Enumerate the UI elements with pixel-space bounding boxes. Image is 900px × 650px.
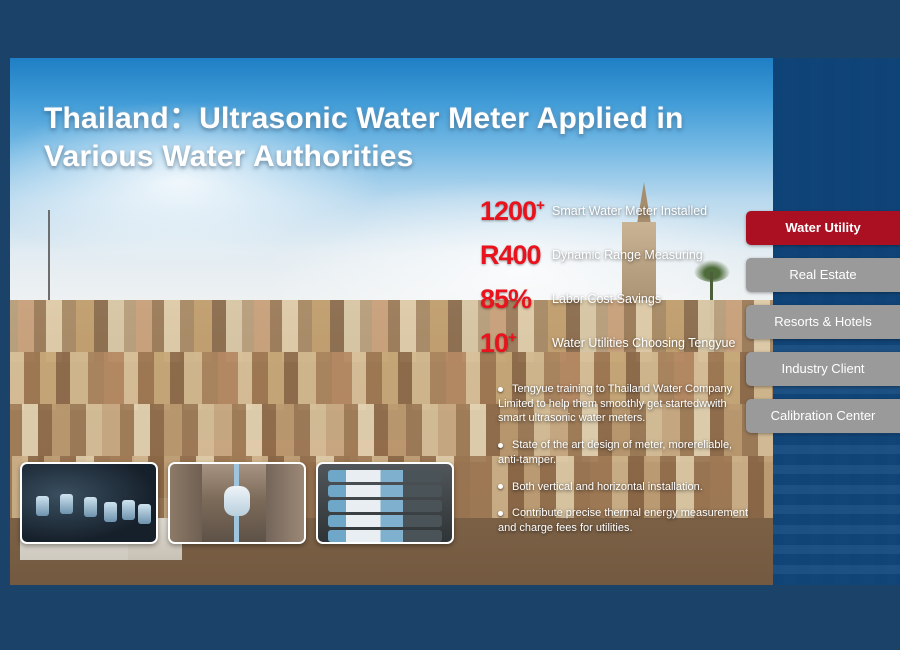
water-meter-in-pit-photo[interactable] <box>168 462 306 544</box>
statistic-item: 10+ Water Utilities Choosing Tengyue <box>480 330 770 357</box>
category-button-water-utility[interactable]: Water Utility <box>746 211 900 245</box>
statistic-suffix: + <box>536 197 545 214</box>
statistic-item: R400 Dynamic Range Measuring <box>480 242 770 269</box>
water-meter-manifold-photo[interactable] <box>316 462 454 544</box>
statistic-value: R400 <box>480 242 552 269</box>
meter-shape <box>138 504 151 524</box>
bullet-item: Tengyue training to Thailand Water Compa… <box>498 382 748 426</box>
pit-wall <box>170 464 202 542</box>
manifold-row <box>328 500 442 512</box>
bullet-text: Contribute precise thermal energy measur… <box>498 507 748 534</box>
manifold-row <box>328 515 442 527</box>
statistic-number: 1200 <box>480 196 536 226</box>
manifold-row <box>328 470 442 482</box>
bullet-dot-icon <box>498 484 503 489</box>
category-menu: Water Utility Real Estate Resorts & Hote… <box>746 211 900 446</box>
category-button-real-estate[interactable]: Real Estate <box>746 258 900 292</box>
water-meter-bank-photo[interactable] <box>20 462 158 544</box>
statistic-label: Labor Cost Savings <box>552 286 661 308</box>
statistics-list: 1200+ Smart Water Meter Installed R400 D… <box>480 198 770 374</box>
statistic-label: Smart Water Meter Installed <box>552 198 707 220</box>
meter-shape <box>36 496 49 516</box>
meter-shape <box>224 486 250 516</box>
statistic-item: 85% Labor Cost Savings <box>480 286 770 313</box>
bullet-item: Contribute precise thermal energy measur… <box>498 506 748 535</box>
bullet-dot-icon <box>498 443 503 448</box>
manifold-row <box>328 485 442 497</box>
meter-shape <box>122 500 135 520</box>
bullet-dot-icon <box>498 511 503 516</box>
feature-bullet-list: Tengyue training to Thailand Water Compa… <box>498 382 748 548</box>
bullet-text: Tengyue training to Thailand Water Compa… <box>498 383 732 424</box>
bullet-item: Both vertical and horizontal installatio… <box>498 480 748 495</box>
statistic-label: Water Utilities Choosing Tengyue <box>552 330 735 352</box>
meter-shape <box>104 502 117 522</box>
meter-shape <box>60 494 73 514</box>
statistic-item: 1200+ Smart Water Meter Installed <box>480 198 770 225</box>
statistic-value: 10+ <box>480 330 552 357</box>
meter-shape <box>84 497 97 517</box>
statistic-number: 10 <box>480 328 508 358</box>
slide-viewer: Thailand：Ultrasonic Water Meter Applied … <box>0 0 900 650</box>
photo-thumbnail-strip <box>20 462 454 544</box>
statistic-value: 1200+ <box>480 198 552 225</box>
category-button-industry-client[interactable]: Industry Client <box>746 352 900 386</box>
statistic-number: 85% <box>480 284 531 314</box>
statistic-label: Dynamic Range Measuring <box>552 242 703 264</box>
statistic-number: R400 <box>480 240 541 270</box>
statistic-suffix: + <box>508 329 517 346</box>
category-button-calibration-center[interactable]: Calibration Center <box>746 399 900 433</box>
bullet-text: State of the art design of meter, morere… <box>498 439 732 466</box>
bullet-dot-icon <box>498 387 503 392</box>
bullet-item: State of the art design of meter, morere… <box>498 438 748 467</box>
category-button-resorts-hotels[interactable]: Resorts & Hotels <box>746 305 900 339</box>
manifold-row <box>328 530 442 542</box>
pit-wall <box>266 464 304 542</box>
antenna-mast <box>48 210 50 302</box>
bullet-text: Both vertical and horizontal installatio… <box>512 481 703 493</box>
statistic-value: 85% <box>480 286 552 313</box>
slide-title: Thailand：Ultrasonic Water Meter Applied … <box>44 100 704 177</box>
